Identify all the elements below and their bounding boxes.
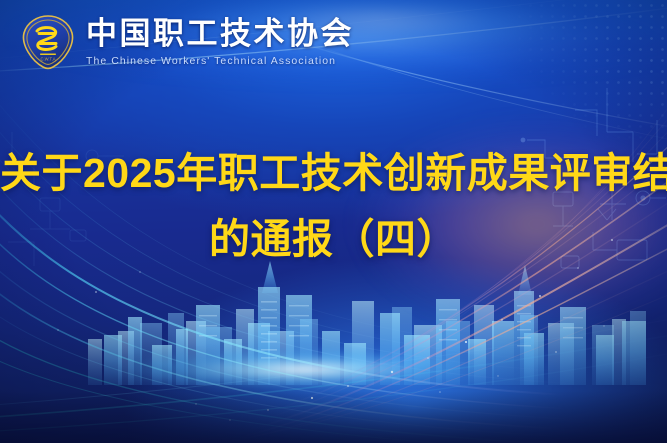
- site-header: C.W.T.A 中国职工技术协会 The Chinese Workers' Te…: [0, 0, 667, 84]
- poster-title: 关于2025年职工技术创新成果评审结果 的通报（四）: [0, 140, 667, 272]
- poster-root: C.W.T.A 中国职工技术协会 The Chinese Workers' Te…: [0, 0, 667, 443]
- title-line-1: 关于2025年职工技术创新成果评审结果: [0, 140, 667, 206]
- svg-text:C.W.T.A: C.W.T.A: [40, 56, 55, 61]
- organization-name-block: 中国职工技术协会 The Chinese Workers' Technical …: [86, 17, 354, 67]
- org-name-en: The Chinese Workers' Technical Associati…: [86, 55, 354, 67]
- title-line-2: 的通报（四）: [0, 206, 667, 272]
- org-name-cn: 中国职工技术协会: [86, 17, 354, 50]
- association-shield-emblem-icon: C.W.T.A: [20, 13, 76, 71]
- horizon-glow: [53, 335, 573, 391]
